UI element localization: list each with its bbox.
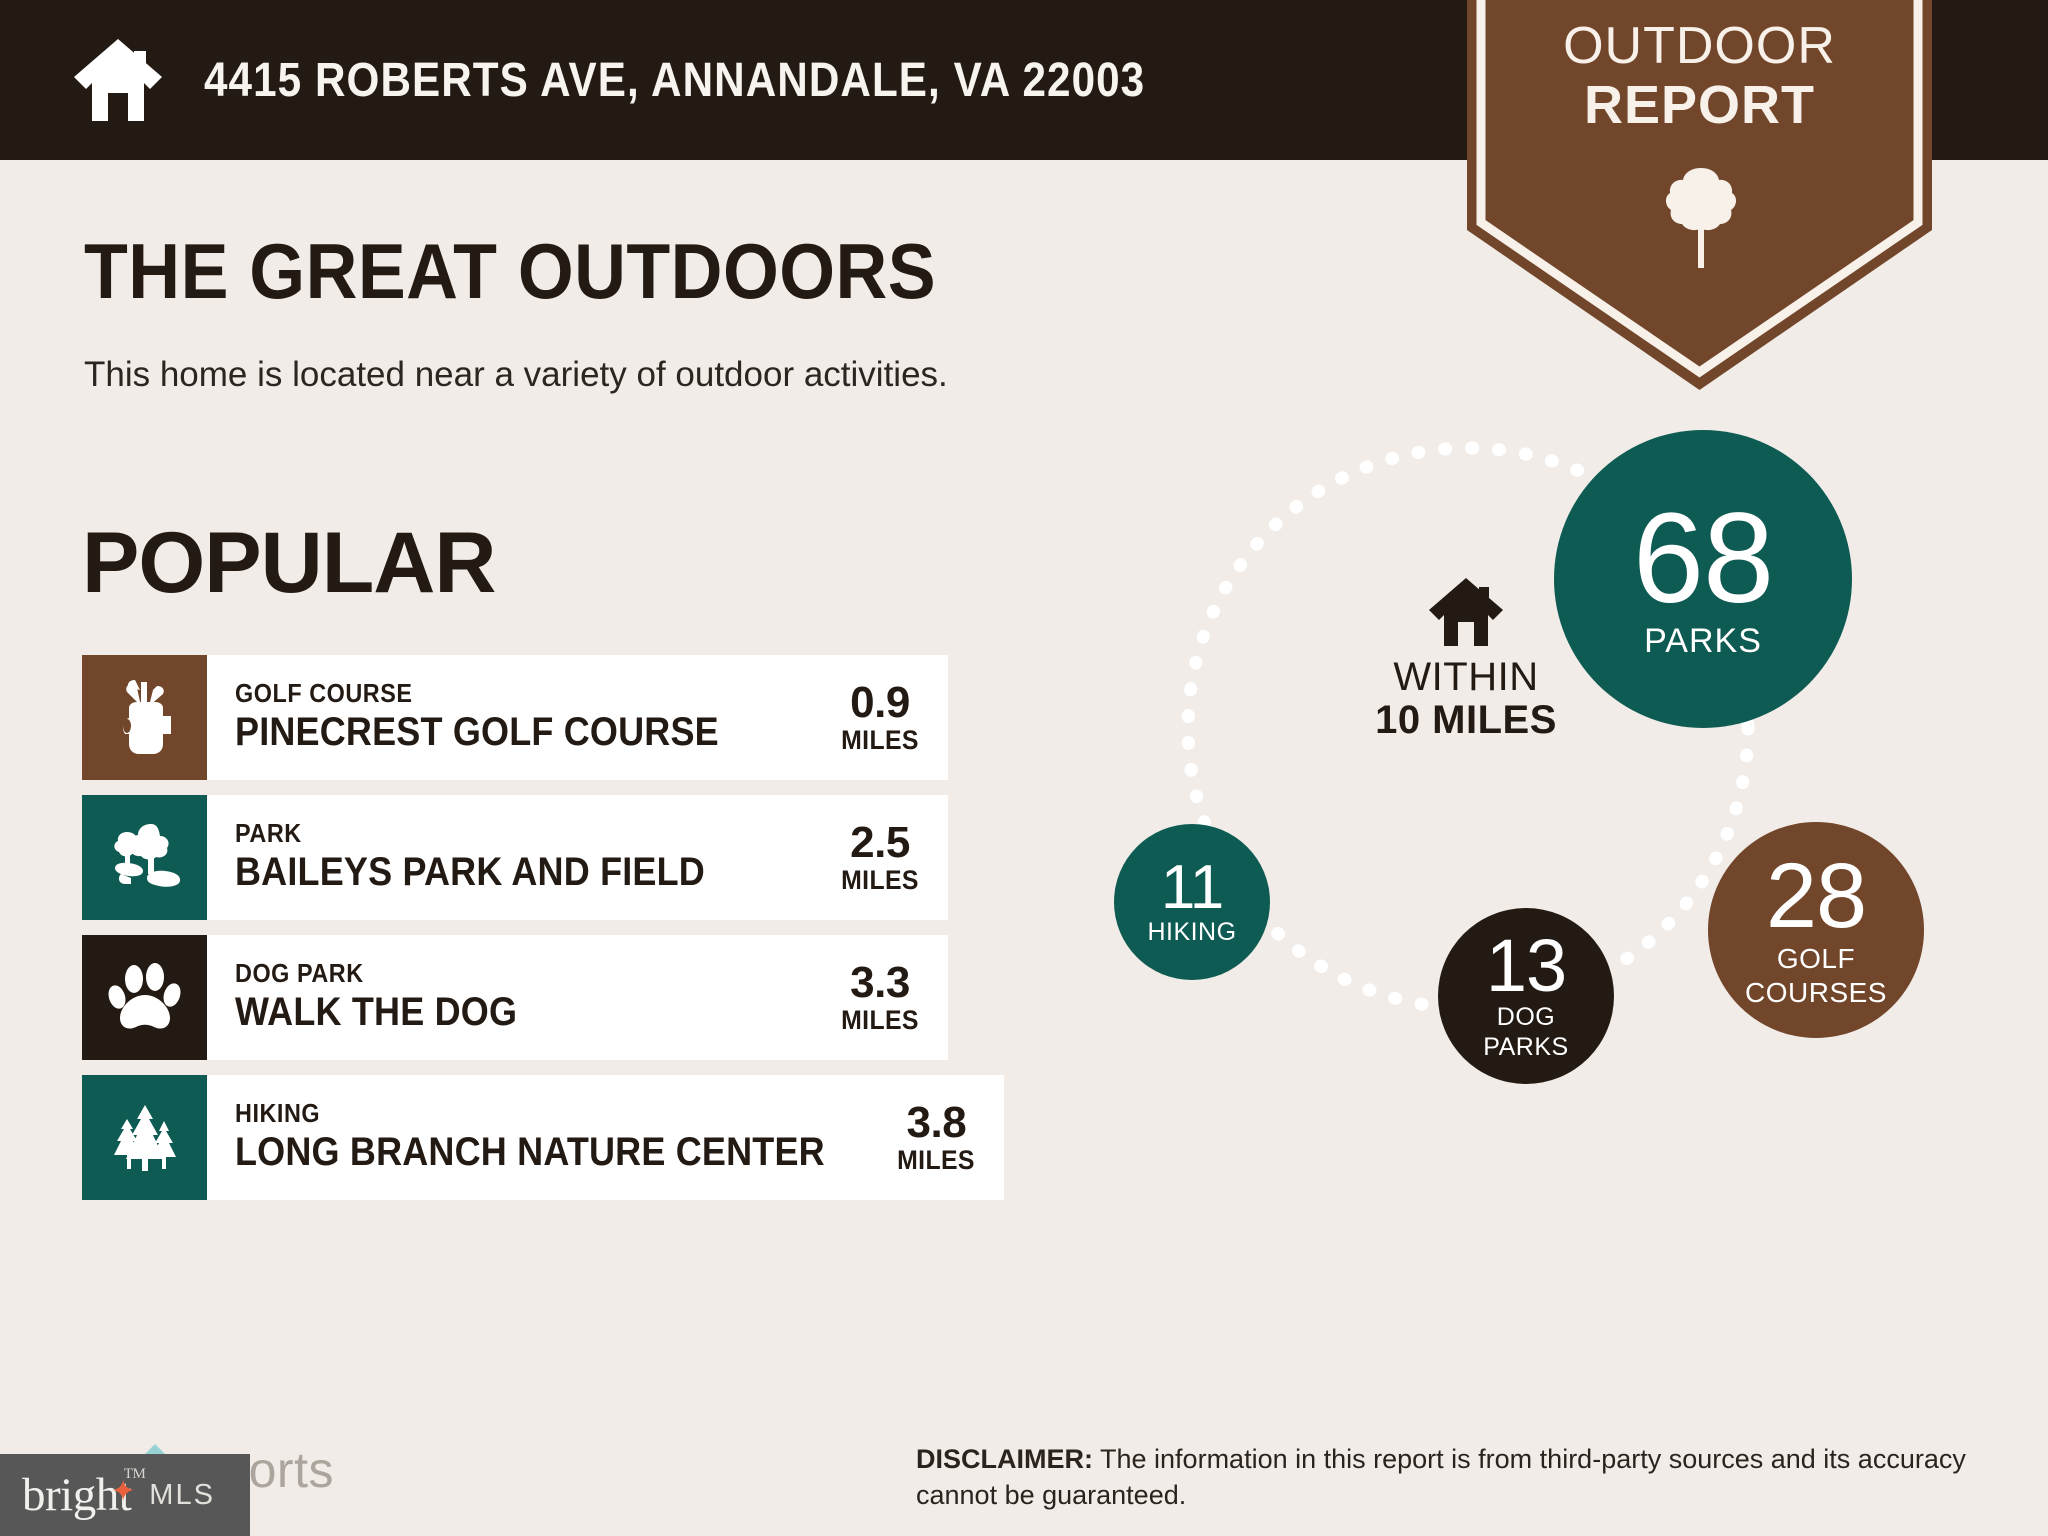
list-item-text-group: GOLF COURSE PINECREST GOLF COURSE — [235, 680, 834, 754]
within-label-line-1: WITHIN — [1346, 656, 1586, 698]
list-item-name: PINECREST GOLF COURSE — [235, 710, 774, 755]
distance-unit: MILES — [838, 866, 923, 894]
mls-logo-text: MLS — [149, 1479, 215, 1512]
distance-unit: MILES — [838, 1006, 923, 1034]
golf-bag-icon — [111, 678, 179, 758]
list-item-icon-tile — [82, 795, 207, 920]
list-item-distance: 3.8 MILES — [890, 1100, 982, 1175]
stat-count: 28 — [1766, 853, 1866, 940]
trademark-mark: TM — [124, 1466, 146, 1483]
list-item-category: PARK — [235, 820, 774, 847]
list-item[interactable]: DOG PARK WALK THE DOG 3.3 MILES — [82, 935, 948, 1060]
distance-unit: MILES — [894, 1146, 979, 1174]
list-item-body: DOG PARK WALK THE DOG 3.3 MILES — [207, 935, 948, 1060]
stat-label-line-1: GOLF — [1777, 944, 1855, 974]
list-item-body: PARK BAILEYS PARK AND FIELD 2.5 MILES — [207, 795, 948, 920]
stat-label: HIKING — [1147, 920, 1236, 945]
list-item-distance: 2.5 MILES — [834, 820, 926, 895]
bright-logo-word: bright ✦ TM — [22, 1468, 131, 1522]
distance-value: 3.3 — [834, 960, 926, 1006]
stat-circle-hiking[interactable]: 11 HIKING — [1114, 824, 1270, 980]
cluster-center: WITHIN 10 MILES — [1346, 576, 1586, 742]
list-item-category: HIKING — [235, 1100, 825, 1127]
stat-label-line-1: DOG — [1497, 1004, 1555, 1031]
bright-mls-logo: bright ✦ TM MLS — [0, 1454, 250, 1536]
distance-value: 3.8 — [890, 1100, 982, 1146]
stat-circle-parks[interactable]: 68 PARKS — [1554, 430, 1852, 728]
stat-label-line-2: PARKS — [1483, 1034, 1568, 1061]
stat-count: 13 — [1486, 931, 1566, 1001]
list-item-category: DOG PARK — [235, 960, 774, 987]
page-title: THE GREAT OUTDOORS — [84, 232, 936, 310]
list-item-distance: 3.3 MILES — [834, 960, 926, 1035]
property-address: 4415 ROBERTS AVE, ANNANDALE, VA 22003 — [204, 53, 1145, 108]
page-subtitle: This home is located near a variety of o… — [84, 355, 948, 395]
section-heading-popular: POPULAR — [82, 520, 495, 606]
list-item-name: LONG BRANCH NATURE CENTER — [235, 1130, 825, 1175]
stat-label: PARKS — [1644, 624, 1762, 658]
disclaimer: DISCLAIMER: The information in this repo… — [916, 1442, 1986, 1513]
list-item-category: GOLF COURSE — [235, 680, 774, 707]
list-item[interactable]: PARK BAILEYS PARK AND FIELD 2.5 MILES — [82, 795, 948, 920]
list-item[interactable]: GOLF COURSE PINECREST GOLF COURSE 0.9 MI… — [82, 655, 948, 780]
list-item-distance: 0.9 MILES — [834, 680, 926, 755]
popular-places-list: GOLF COURSE PINECREST GOLF COURSE 0.9 MI… — [82, 655, 948, 1215]
list-item-text-group: DOG PARK WALK THE DOG — [235, 960, 834, 1034]
home-icon — [1346, 576, 1586, 648]
list-item-name: BAILEYS PARK AND FIELD — [235, 850, 774, 895]
outdoor-report-page: 4415 ROBERTS AVE, ANNANDALE, VA 22003 OU… — [0, 0, 2048, 1536]
list-item-body: GOLF COURSE PINECREST GOLF COURSE 0.9 MI… — [207, 655, 948, 780]
list-item[interactable]: HIKING LONG BRANCH NATURE CENTER 3.8 MIL… — [82, 1075, 948, 1200]
list-item-text-group: PARK BAILEYS PARK AND FIELD — [235, 820, 834, 894]
disclaimer-label: DISCLAIMER: — [916, 1444, 1093, 1474]
list-item-text-group: HIKING LONG BRANCH NATURE CENTER — [235, 1100, 890, 1174]
distance-value: 0.9 — [834, 680, 926, 726]
amenities-circle-cluster: 68 PARKS 28 GOLF COURSES 13 DOG PARKS 11… — [1096, 440, 1976, 1060]
outdoor-report-badge: OUTDOOR REPORT — [1467, 0, 1932, 390]
paw-print-icon — [108, 963, 182, 1033]
stat-label-line-2: COURSES — [1745, 978, 1887, 1008]
stat-circle-dog-parks[interactable]: 13 DOG PARKS — [1438, 908, 1614, 1084]
list-item-icon-tile — [82, 655, 207, 780]
home-icon — [72, 37, 164, 123]
stat-circle-golf-courses[interactable]: 28 GOLF COURSES — [1708, 822, 1924, 1038]
list-item-icon-tile — [82, 935, 207, 1060]
list-item-name: WALK THE DOG — [235, 990, 774, 1035]
within-label-line-2: 10 MILES — [1346, 698, 1586, 742]
pine-trees-icon — [106, 1101, 184, 1175]
header-content: 4415 ROBERTS AVE, ANNANDALE, VA 22003 — [72, 0, 1274, 160]
list-item-icon-tile — [82, 1075, 207, 1200]
stat-count: 11 — [1161, 859, 1223, 918]
distance-unit: MILES — [838, 726, 923, 754]
park-trees-icon — [107, 822, 183, 894]
list-item-body: HIKING LONG BRANCH NATURE CENTER 3.8 MIL… — [207, 1075, 1004, 1200]
stat-count: 68 — [1633, 500, 1773, 618]
distance-value: 2.5 — [834, 820, 926, 866]
